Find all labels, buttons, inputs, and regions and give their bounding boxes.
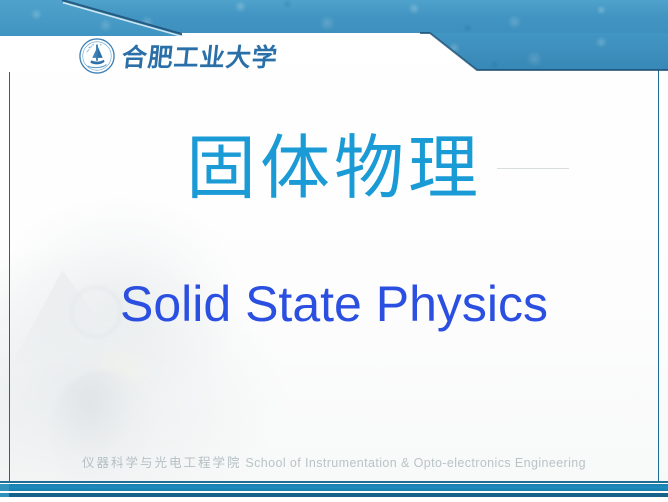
- footer-bar-gap-3: [0, 497, 668, 502]
- footer-bar-line-2: [0, 484, 668, 491]
- footer-bar-left-tick-2: [0, 493, 9, 497]
- university-logo: 合肥工业大学: [78, 34, 303, 78]
- footer-bar-left-tick-1: [0, 484, 9, 491]
- university-logo-text: 合肥工业大学: [120, 38, 280, 74]
- frame-right-border: [658, 2, 659, 484]
- slide-footer: 仪器科学与光电工程学院 School of Instrumentation & …: [0, 452, 668, 471]
- slide-title-english: Solid State Physics: [0, 274, 668, 334]
- frame-left-border: [9, 2, 10, 482]
- university-sailboat-emblem-icon: [78, 37, 116, 75]
- title-underline-rule: [497, 168, 569, 169]
- footer-department-chinese: 仪器科学与光电工程学院: [82, 455, 242, 470]
- footer-department-english: School of Instrumentation & Opto-electro…: [245, 456, 586, 470]
- presentation-slide: 合肥工业大学 固体物理 Solid State Physics 仪器科学与光电工…: [0, 0, 668, 502]
